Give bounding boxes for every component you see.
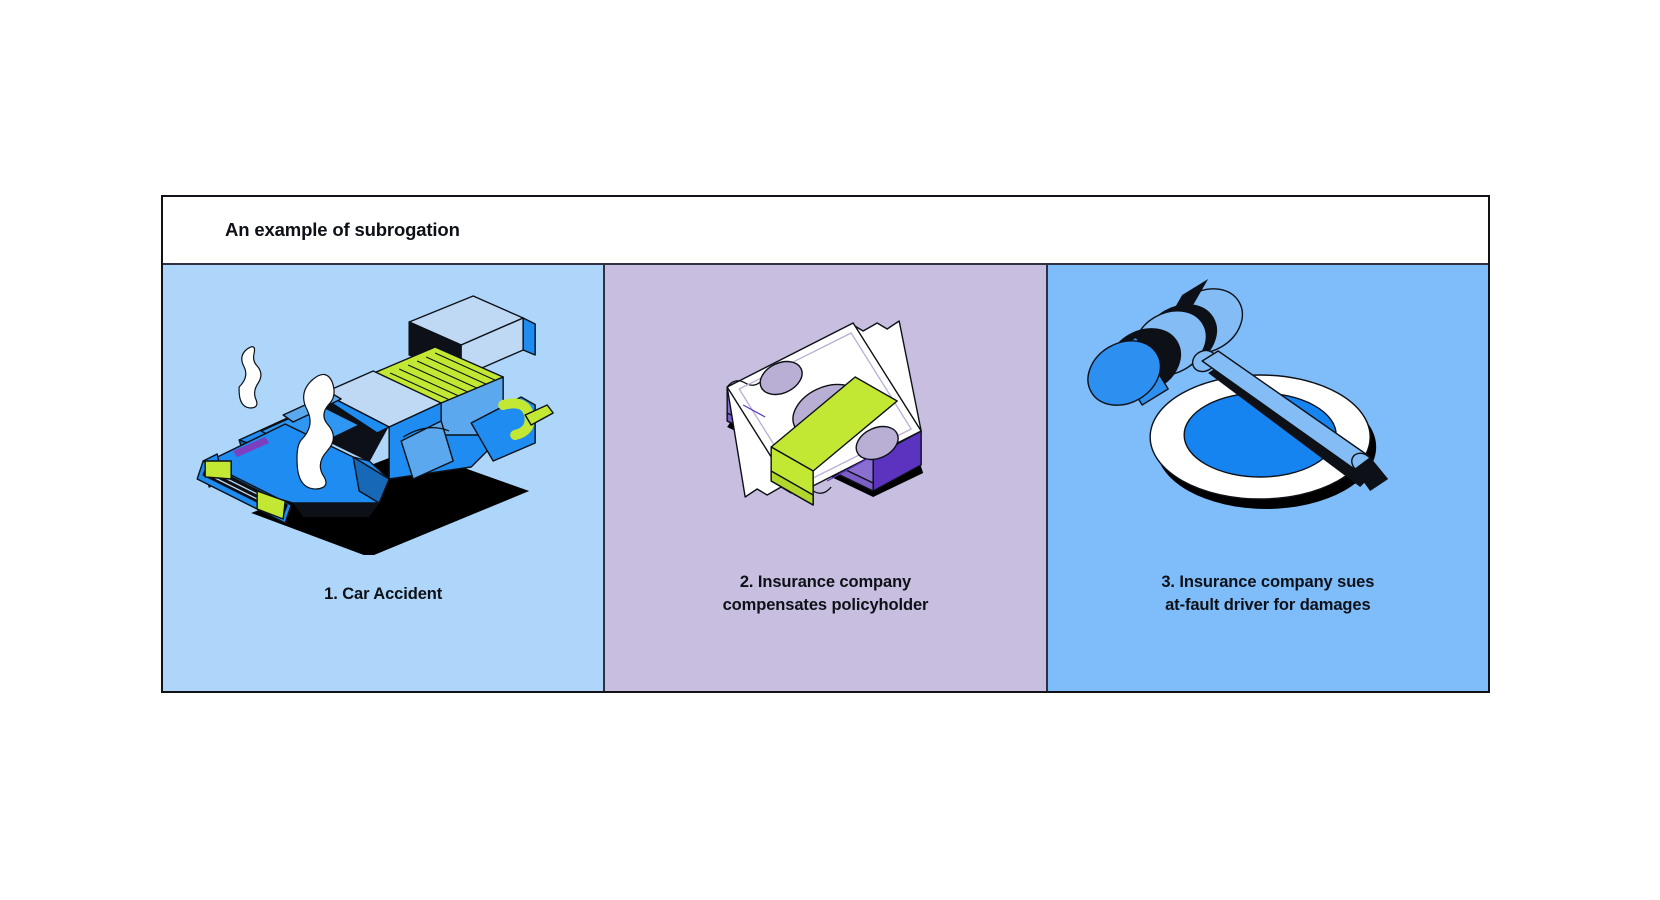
panel-caption-subrogation-suit: 3. Insurance company sues at-fault drive… <box>1147 571 1388 618</box>
infographic-title-bar: An example of subrogation <box>163 197 1488 265</box>
panel-car-accident: 1. Car Accident <box>163 265 603 691</box>
panel-caption-car-accident: 1. Car Accident <box>310 583 456 606</box>
subrogation-suit-illustration <box>1048 265 1488 555</box>
gavel-icon <box>1048 265 1488 555</box>
crashed-car-icon <box>163 265 603 555</box>
subrogation-infographic: An example of subrogation <box>161 195 1490 693</box>
panel-compensation: 2. Insurance company compensates policyh… <box>603 265 1045 691</box>
panel-subrogation-suit: 3. Insurance company sues at-fault drive… <box>1046 265 1488 691</box>
panel-caption-compensation: 2. Insurance company compensates policyh… <box>709 571 943 618</box>
cash-stack-icon <box>605 265 1045 555</box>
infographic-canvas: An example of subrogation <box>0 0 1660 900</box>
panels-row: 1. Car Accident <box>163 265 1488 691</box>
infographic-title: An example of subrogation <box>163 219 460 241</box>
car-accident-illustration <box>163 265 603 555</box>
compensation-illustration <box>605 265 1045 555</box>
